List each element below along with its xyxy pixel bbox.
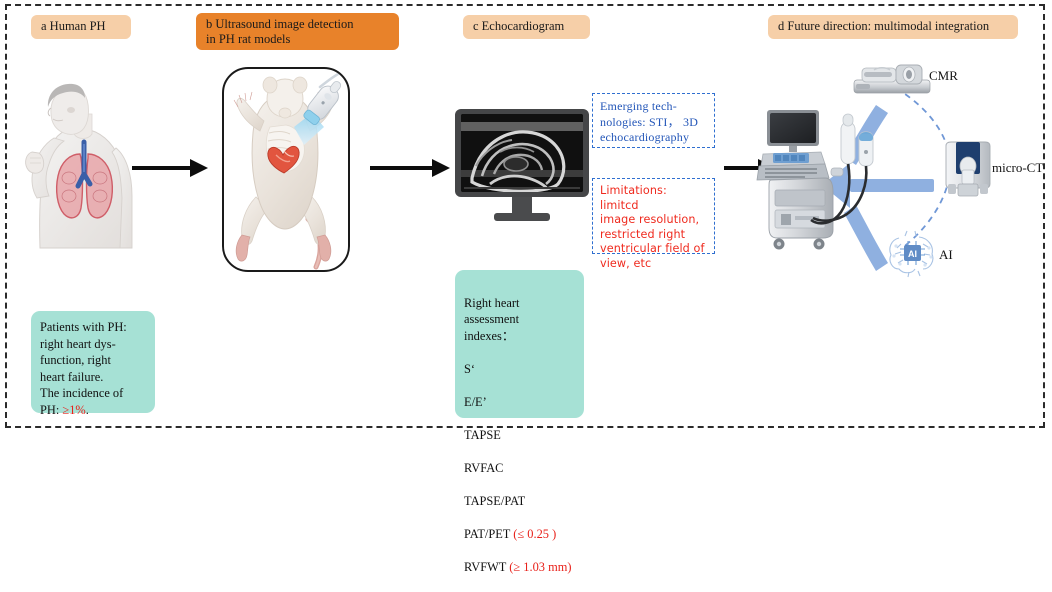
index-item: TAPSE (464, 427, 575, 444)
index-name: S‘ (464, 362, 475, 376)
panel-label-c: c Echocardiogram (463, 15, 590, 39)
panel-label-b: b Ultrasound image detection in PH rat m… (196, 13, 399, 50)
index-item: RVFAC (464, 460, 575, 477)
panel-label-d: d Future direction: multimodal integrati… (768, 15, 1018, 39)
ai-brain-chip-icon: AI (885, 228, 939, 278)
modality-label-cmr: CMR (929, 68, 958, 84)
index-item: RVFWT (≥ 1.03 mm) (464, 559, 575, 576)
panel-a-incidence-value: ≥1% (62, 403, 85, 417)
right-heart-assessment-index-box: Right heart assessment indexes： S‘ E/E’ … (455, 270, 584, 418)
modality-label-ai: AI (939, 247, 953, 263)
index-threshold: (≥ 1.03 mm) (509, 560, 571, 574)
flow-arrow-b-to-c (368, 155, 452, 181)
callout-emerging-technologies: Emerging tech- nologies: STI， 3D echocar… (592, 93, 715, 148)
panel-label-a: a Human PH (31, 15, 131, 39)
panel-a-note-box: Patients with PH: right heart dys- funct… (31, 311, 155, 413)
index-item: TAPSE/PAT (464, 493, 575, 510)
human-torso-lungs-illustration (24, 78, 146, 263)
svg-text:AI: AI (908, 249, 917, 259)
flow-arrow-a-to-b (130, 155, 210, 181)
modality-label-micro-ct: micro-CT (992, 160, 1043, 176)
supine-rat-with-ultrasound-probe-illustration (224, 69, 348, 270)
mri-scanner-icon (852, 62, 932, 98)
panel-a-note-tail: . (86, 403, 89, 417)
figure-canvas: a Human PH b Ultrasound image detection … (0, 0, 1052, 434)
index-box-heading: Right heart assessment indexes： (464, 295, 575, 345)
index-threshold: (≤ 0.25 ) (513, 527, 556, 541)
index-name: RVFWT (464, 560, 506, 574)
ultrasound-machine-cart-illustration (755, 108, 877, 251)
index-name: E/E’ (464, 395, 487, 409)
panel-b-rat-frame (222, 67, 350, 272)
index-item: PAT/PET (≤ 0.25 ) (464, 526, 575, 543)
index-name: TAPSE/PAT (464, 494, 525, 508)
index-item: S‘ (464, 361, 575, 378)
micro-ct-scanner-icon (942, 140, 994, 200)
index-name: RVFAC (464, 461, 503, 475)
echocardiogram-monitor-illustration (452, 108, 592, 230)
index-name: PAT/PET (464, 527, 510, 541)
callout-limitations: Limitations: limitcd image resolution, r… (592, 178, 715, 254)
index-item: E/E’ (464, 394, 575, 411)
index-name: TAPSE (464, 428, 501, 442)
